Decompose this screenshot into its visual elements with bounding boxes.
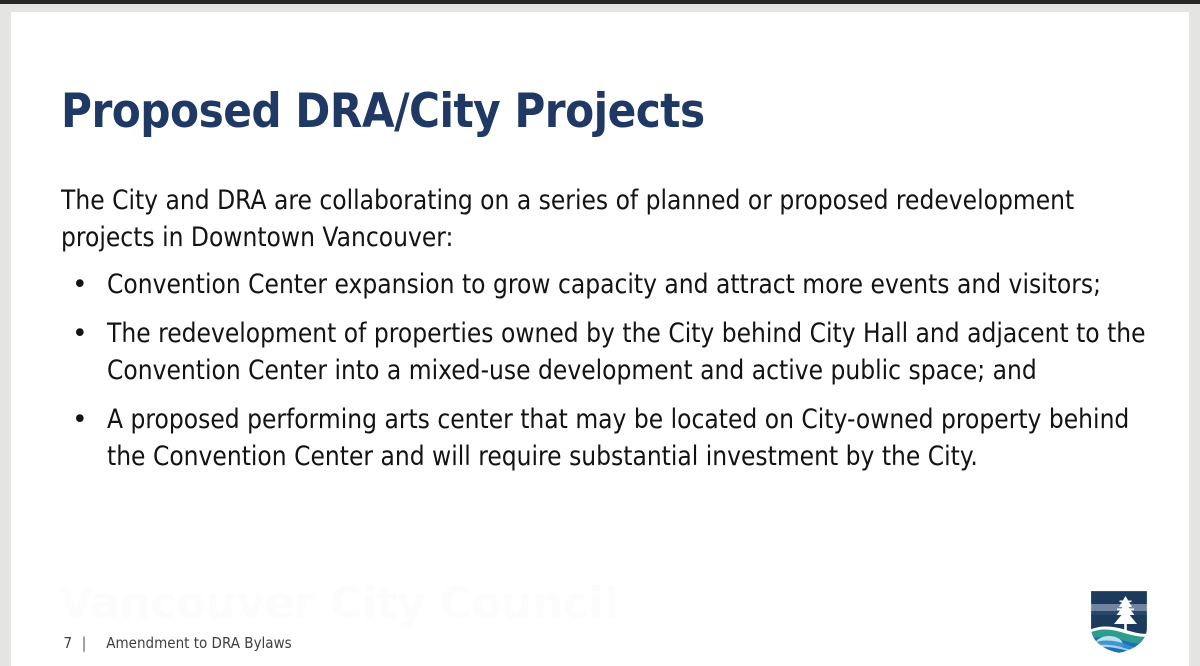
page-title: Proposed DRA/City Projects [61,87,961,138]
slide-viewer: Vancouver City Council Proposed DRA/City… [0,0,1200,666]
city-of-vancouver-shield-icon [1088,588,1150,656]
slide-watermark: Vancouver City Council [59,578,618,629]
list-item-text: Convention Center expansion to grow capa… [107,266,1160,303]
list-item-text: The redevelopment of properties owned by… [107,315,1160,389]
footer-label: Amendment to DRA Bylaws [106,634,291,652]
list-item-text: A proposed performing arts center that m… [107,401,1160,475]
list-item: • A proposed performing arts center that… [61,401,1161,475]
bullet-dot-icon: • [72,401,84,438]
slide-footer: 7 | Amendment to DRA Bylaws [63,634,302,652]
presentation-slide: Vancouver City Council Proposed DRA/City… [11,12,1189,666]
bullet-dot-icon: • [72,266,84,303]
list-item: • Convention Center expansion to grow ca… [61,266,1161,303]
intro-paragraph: The City and DRA are collaborating on a … [61,182,1150,256]
slide-body: The City and DRA are collaborating on a … [61,182,1161,475]
list-item: • The redevelopment of properties owned … [61,315,1161,389]
page-number: 7 [63,634,72,652]
bullet-list: • Convention Center expansion to grow ca… [61,266,1161,475]
bullet-dot-icon: • [72,315,84,352]
footer-separator: | [82,634,87,652]
